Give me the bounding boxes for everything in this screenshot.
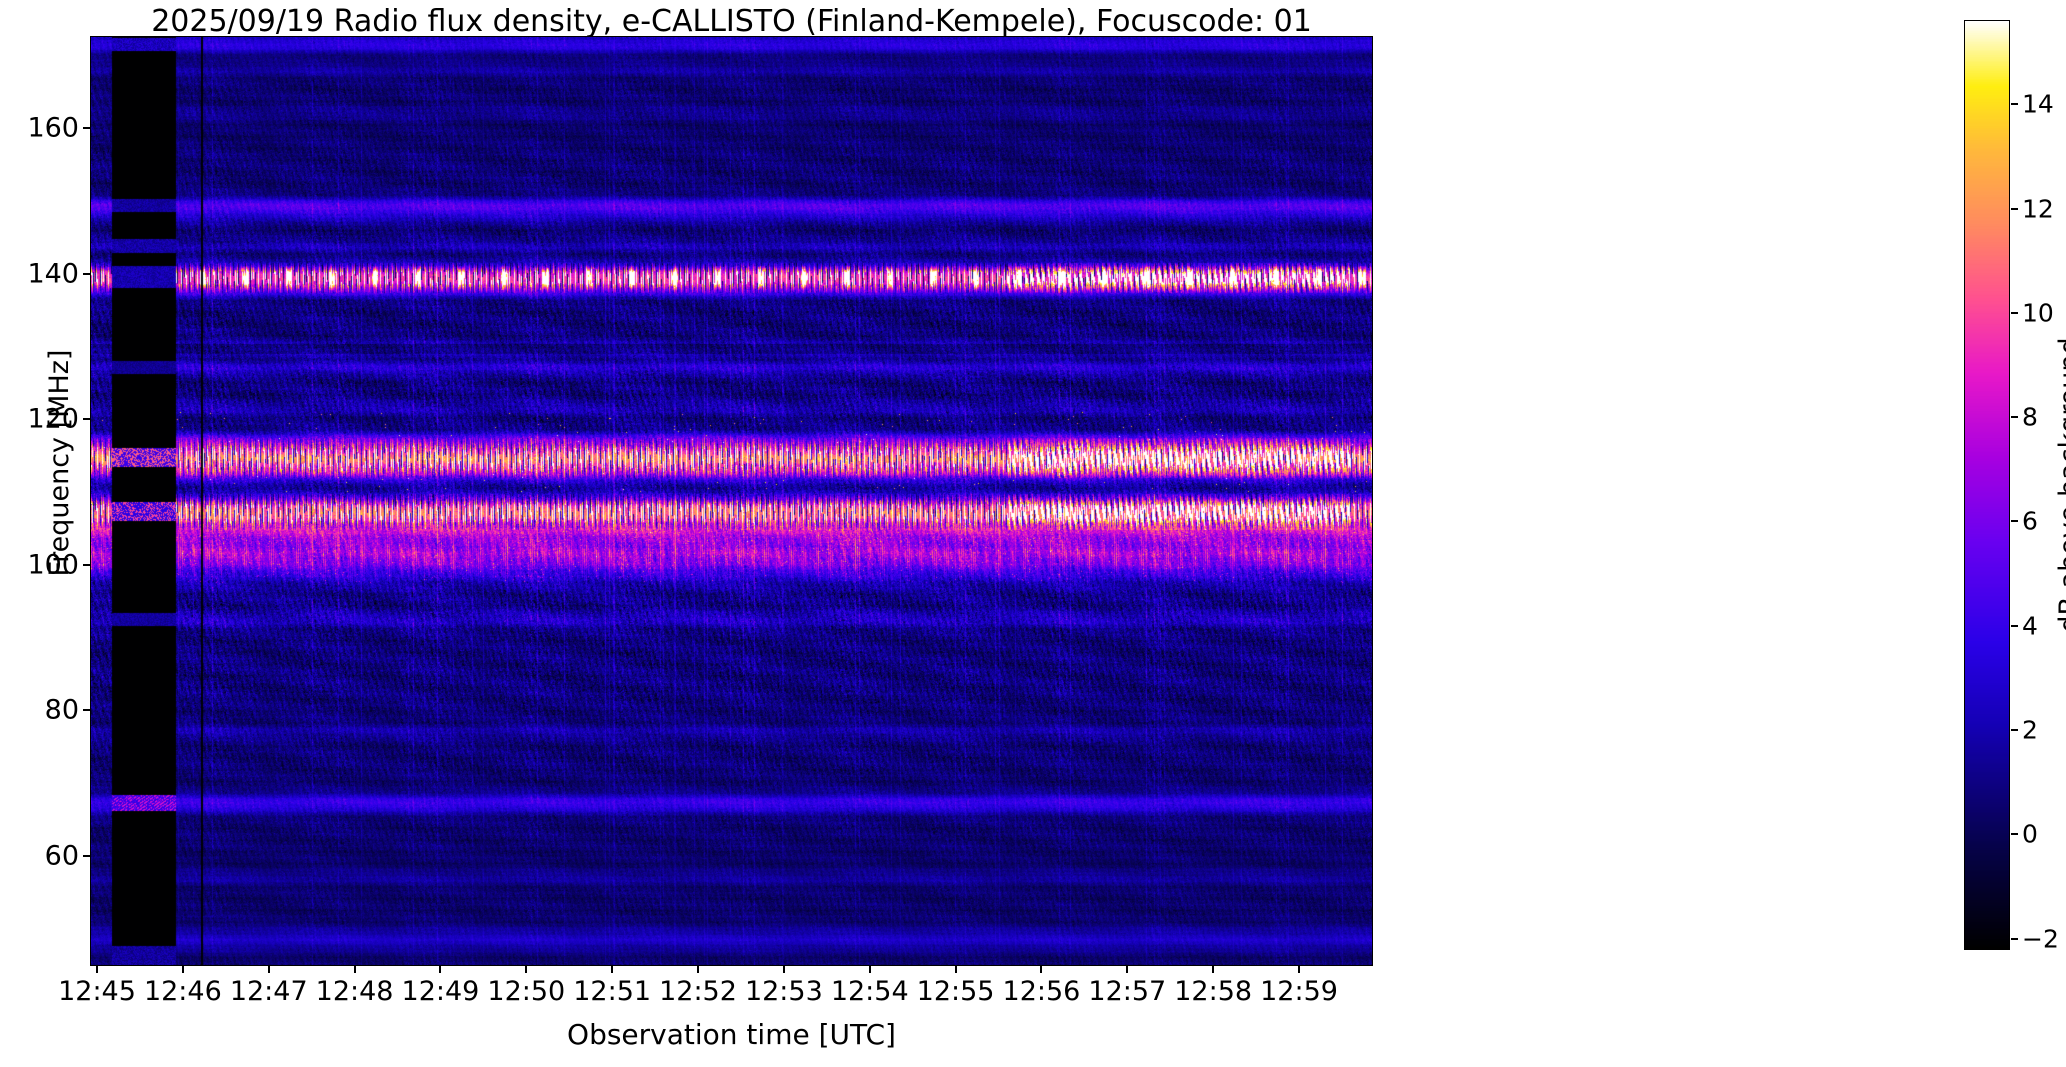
- x-axis-label: Observation time [UTC]: [90, 1018, 1373, 1051]
- x-axis-tick-mark: [1212, 966, 1214, 973]
- colorbar-tick-mark: [2011, 312, 2018, 314]
- colorbar-tick-mark: [2011, 729, 2018, 731]
- x-axis-tick-mark: [955, 966, 957, 973]
- spectrogram-plot-area[interactable]: [90, 36, 1373, 966]
- colorbar-gradient: [1965, 21, 2009, 949]
- y-axis-tick-label: 140: [27, 258, 79, 289]
- x-axis-tick-mark: [439, 966, 441, 973]
- x-axis-tick-mark: [697, 966, 699, 973]
- x-axis-tick-mark: [182, 966, 184, 973]
- colorbar-tick-label: 4: [2022, 611, 2038, 640]
- colorbar-tick-mark: [2011, 938, 2018, 940]
- y-axis-tick-mark: [83, 273, 90, 275]
- x-axis-tick-label: 12:54: [831, 976, 909, 1007]
- x-axis-tick-mark: [611, 966, 613, 973]
- colorbar-tick-mark: [2011, 208, 2018, 210]
- x-axis-tick-mark: [268, 966, 270, 973]
- y-axis-tick-mark: [83, 855, 90, 857]
- y-axis-tick-mark: [83, 127, 90, 129]
- colorbar-tick-mark: [2011, 625, 2018, 627]
- x-axis-tick-label: 12:46: [144, 976, 222, 1007]
- colorbar-tick-label: 6: [2022, 507, 2038, 536]
- x-axis-tick-label: 12:56: [1003, 976, 1081, 1007]
- colorbar-tick-label: 2: [2022, 716, 2038, 745]
- colorbar-tick-label: 8: [2022, 403, 2038, 432]
- x-axis-tick-label: 12:59: [1260, 976, 1338, 1007]
- y-axis-tick-label: 120: [27, 404, 79, 435]
- colorbar-label: dB above background: [2054, 135, 2066, 835]
- x-axis-tick-label: 12:48: [316, 976, 394, 1007]
- x-axis-tick-label: 12:57: [1088, 976, 1166, 1007]
- x-axis-tick-mark: [525, 966, 527, 973]
- colorbar-tick-label: 0: [2022, 820, 2038, 849]
- x-axis-tick-mark: [1126, 966, 1128, 973]
- spectrogram-figure: 2025/09/19 Radio flux density, e-CALLIST…: [0, 0, 2066, 1067]
- colorbar[interactable]: [1964, 20, 2010, 950]
- x-axis-tick-label: 12:47: [230, 976, 308, 1007]
- x-axis-tick-label: 12:49: [402, 976, 480, 1007]
- x-axis-tick-label: 12:53: [745, 976, 823, 1007]
- x-axis-tick-label: 12:52: [659, 976, 737, 1007]
- colorbar-tick-label: 10: [2022, 298, 2054, 327]
- page-title: 2025/09/19 Radio flux density, e-CALLIST…: [90, 4, 1373, 40]
- y-axis-tick-label: 60: [45, 840, 79, 871]
- colorbar-tick-label: −2: [2022, 924, 2059, 953]
- x-axis-tick-mark: [354, 966, 356, 973]
- x-axis-tick-label: 12:55: [917, 976, 995, 1007]
- colorbar-tick-mark: [2011, 520, 2018, 522]
- x-axis-tick-label: 12:50: [487, 976, 565, 1007]
- x-axis-tick-label: 12:45: [58, 976, 136, 1007]
- x-axis-tick-mark: [96, 966, 98, 973]
- y-axis-tick-label: 160: [27, 112, 79, 143]
- y-axis-tick-mark: [83, 564, 90, 566]
- colorbar-tick-label: 14: [2022, 90, 2054, 119]
- x-axis-tick-mark: [869, 966, 871, 973]
- colorbar-tick-mark: [2011, 416, 2018, 418]
- spectrogram-canvas: [91, 37, 1372, 965]
- colorbar-tick-label: 12: [2022, 194, 2054, 223]
- x-axis-tick-label: 12:51: [573, 976, 651, 1007]
- colorbar-tick-mark: [2011, 833, 2018, 835]
- x-axis-tick-mark: [1040, 966, 1042, 973]
- x-axis-tick-mark: [783, 966, 785, 973]
- y-axis-tick-label: 100: [27, 549, 79, 580]
- y-axis-tick-mark: [83, 709, 90, 711]
- colorbar-tick-mark: [2011, 103, 2018, 105]
- y-axis-tick-mark: [83, 418, 90, 420]
- x-axis-tick-mark: [1298, 966, 1300, 973]
- y-axis-tick-label: 80: [45, 695, 79, 726]
- x-axis-tick-label: 12:58: [1174, 976, 1252, 1007]
